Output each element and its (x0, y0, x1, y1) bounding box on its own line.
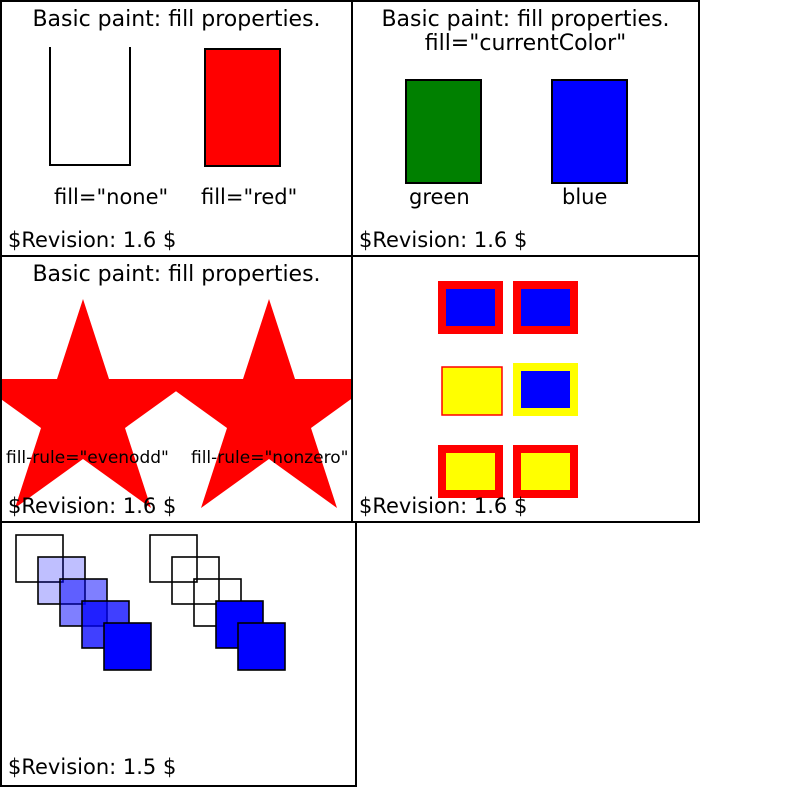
inheritance-grid-graphic (353, 257, 700, 523)
fill-basic-graphic (2, 2, 353, 257)
panel-fill-rule[interactable]: Basic paint: fill properties. fill-rule=… (0, 255, 353, 523)
grid-rect-3 (442, 367, 502, 415)
panel-fill-opacity[interactable]: $Revision: 1.5 $ (0, 521, 357, 787)
caption-fill-red: fill="red" (201, 185, 297, 209)
fill-rule-graphic (2, 257, 353, 523)
revision-label: $Revision: 1.6 $ (359, 228, 527, 252)
rect-fill-red (205, 49, 280, 166)
caption-blue: blue (562, 185, 607, 209)
revision-label: $Revision: 1.6 $ (8, 228, 176, 252)
grid-rect-6 (517, 449, 574, 494)
grid-rect-5 (442, 449, 499, 494)
caption-fill-rule-nonzero: fill-rule="nonzero" (191, 448, 348, 468)
panel-fill-inheritance-grid[interactable]: $Revision: 1.6 $ (351, 255, 700, 523)
grid-rect-2 (517, 285, 574, 330)
caption-green: green (409, 185, 470, 209)
panel-fill-properties-basic[interactable]: Basic paint: fill properties. fill="none… (0, 0, 353, 257)
test-sheet: Basic paint: fill properties. fill="none… (0, 0, 800, 800)
fill-opacity-graphic (2, 523, 357, 787)
star-nonzero (159, 299, 353, 508)
revision-label: $Revision: 1.5 $ (8, 755, 176, 779)
opacity-cascade-right (150, 535, 285, 670)
currentcolor-graphic (353, 2, 700, 257)
grid-rect-4 (517, 367, 574, 412)
opacity-square-r5 (238, 623, 285, 670)
opacity-square-l5 (104, 623, 151, 670)
revision-label: $Revision: 1.6 $ (8, 494, 176, 518)
rect-fill-none (50, 47, 130, 165)
star-evenodd (0, 299, 193, 508)
opacity-cascade-left (16, 535, 151, 670)
rect-blue (552, 80, 627, 183)
caption-fill-rule-evenodd: fill-rule="evenodd" (6, 448, 169, 468)
grid-rect-1 (442, 285, 499, 330)
caption-fill-none: fill="none" (54, 185, 168, 209)
rect-green (406, 80, 481, 183)
revision-label: $Revision: 1.6 $ (359, 494, 527, 518)
panel-fill-currentcolor[interactable]: Basic paint: fill properties. fill="curr… (351, 0, 700, 257)
